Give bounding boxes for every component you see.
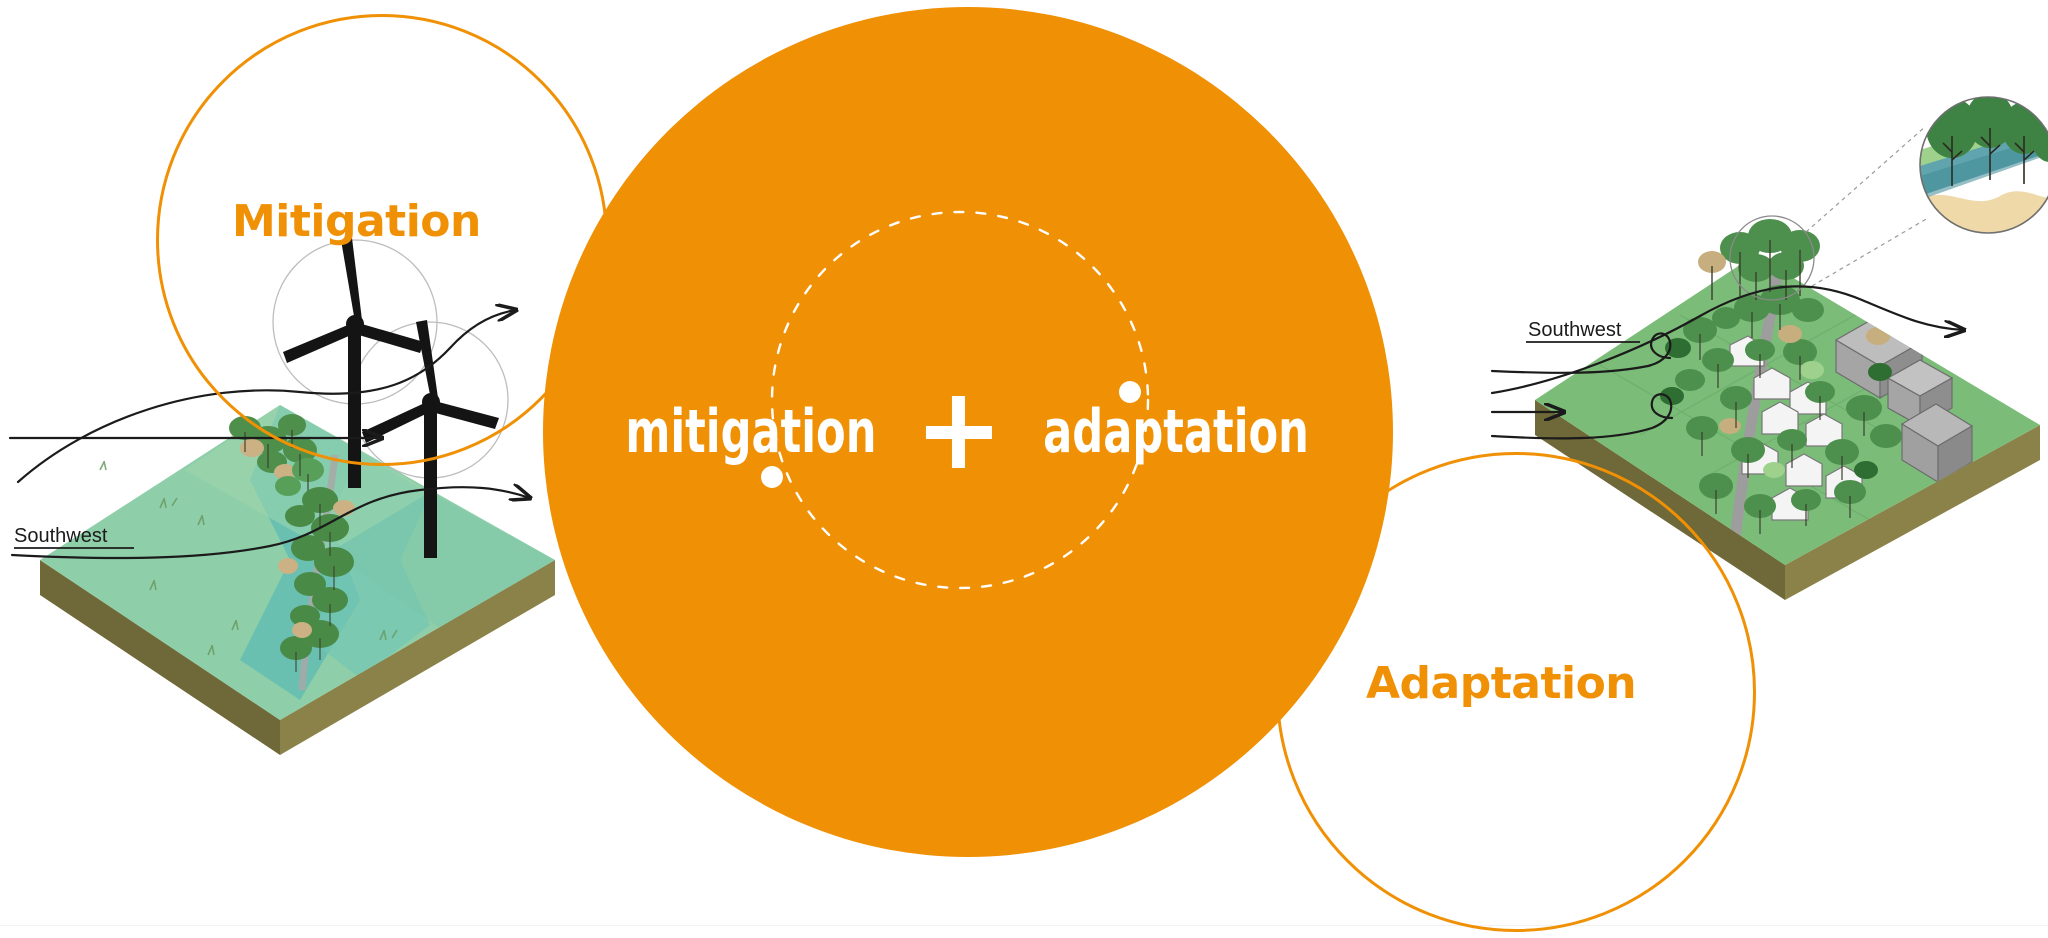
ring-node-left — [761, 466, 783, 488]
mitigation-label: Mitigation — [232, 196, 481, 247]
diagram-canvas: Southwest — [0, 0, 2048, 938]
center-equation: mitigation adaptation — [594, 396, 1342, 468]
equation-right-word: adaptation — [1043, 402, 1309, 462]
equation-left-word: mitigation — [625, 402, 876, 462]
adaptation-label: Adaptation — [1366, 658, 1636, 709]
plus-icon — [926, 396, 992, 468]
